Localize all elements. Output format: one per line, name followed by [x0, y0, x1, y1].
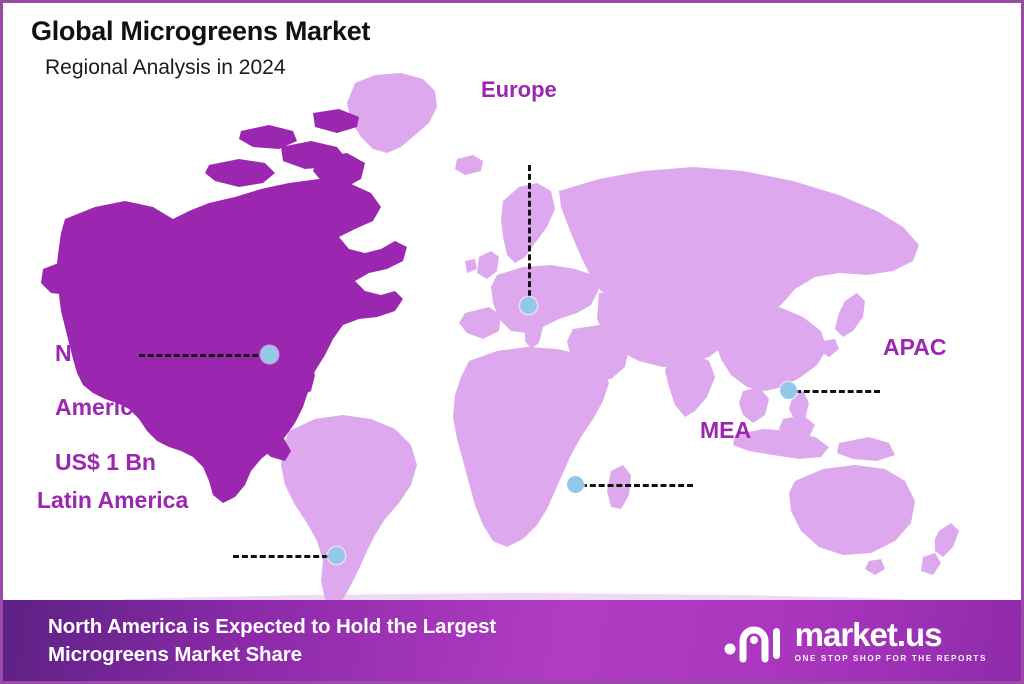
marker-north-america[interactable]: [261, 346, 278, 363]
europe-shape: [491, 265, 599, 333]
region-label-north-america-value: US$ 1 Bn: [55, 449, 156, 476]
market-us-logo-icon: [723, 619, 785, 663]
iceland-shape: [455, 155, 483, 175]
marker-mea[interactable]: [567, 476, 584, 493]
canada-arctic-3-shape: [239, 125, 297, 149]
footer-headline: North America is Expected to Hold the La…: [48, 613, 496, 668]
africa-shape: [453, 347, 609, 547]
british-isles-shape: [477, 251, 499, 279]
market-us-logo-words: market.us ONE STOP SHOP FOR THE REPORTS: [795, 618, 987, 663]
leader-line-europe: [528, 165, 531, 305]
region-label-north-america: North America US$ 1 Bn: [55, 313, 156, 503]
new-guinea-shape: [837, 437, 895, 461]
region-label-north-america-line2: America: [55, 394, 156, 421]
logo-name: market.us: [795, 618, 942, 651]
leader-line-north-america: [139, 354, 267, 357]
marker-apac[interactable]: [780, 382, 797, 399]
world-map-svg: [3, 61, 1024, 606]
japan-shape: [835, 293, 865, 337]
ireland-shape: [465, 259, 477, 273]
new-zealand-shape: [935, 523, 959, 557]
page-subtitle: Regional Analysis in 2024: [45, 56, 1021, 79]
india-shape: [665, 353, 715, 417]
footer-bar: North America is Expected to Hold the La…: [3, 600, 1021, 681]
marker-latin-america[interactable]: [328, 547, 345, 564]
greenland-shape: [347, 73, 437, 153]
marker-europe[interactable]: [520, 297, 537, 314]
footer-headline-line2: Microgreens Market Share: [48, 641, 496, 669]
region-label-apac: APAC: [883, 334, 946, 361]
region-label-mea: MEA: [700, 417, 751, 444]
madagascar-shape: [607, 465, 631, 509]
region-label-north-america-line1: North: [55, 340, 156, 367]
market-us-logo[interactable]: market.us ONE STOP SHOP FOR THE REPORTS: [723, 618, 999, 663]
page-title: Global Microgreens Market: [31, 17, 1021, 47]
leader-line-apac: [795, 390, 880, 393]
canada-arctic-1-shape: [205, 159, 275, 187]
east-asia-shape: [713, 305, 827, 391]
footer-headline-line1: North America is Expected to Hold the La…: [48, 613, 496, 641]
region-label-latin-america: Latin America: [37, 487, 188, 514]
world-map: [3, 61, 1024, 606]
header: Global Microgreens Market Regional Analy…: [3, 3, 1021, 79]
leader-line-latin-america: [233, 555, 337, 558]
australia-shape: [789, 465, 915, 555]
region-label-europe: Europe: [481, 77, 557, 103]
tasmania-shape: [865, 559, 885, 575]
new-zealand-south-shape: [921, 553, 941, 575]
leader-line-mea: [581, 484, 693, 487]
south-america-shape: [281, 415, 417, 605]
logo-tagline: ONE STOP SHOP FOR THE REPORTS: [795, 654, 987, 663]
infographic-root: Global Microgreens Market Regional Analy…: [0, 0, 1024, 684]
iberia-shape: [459, 307, 501, 339]
